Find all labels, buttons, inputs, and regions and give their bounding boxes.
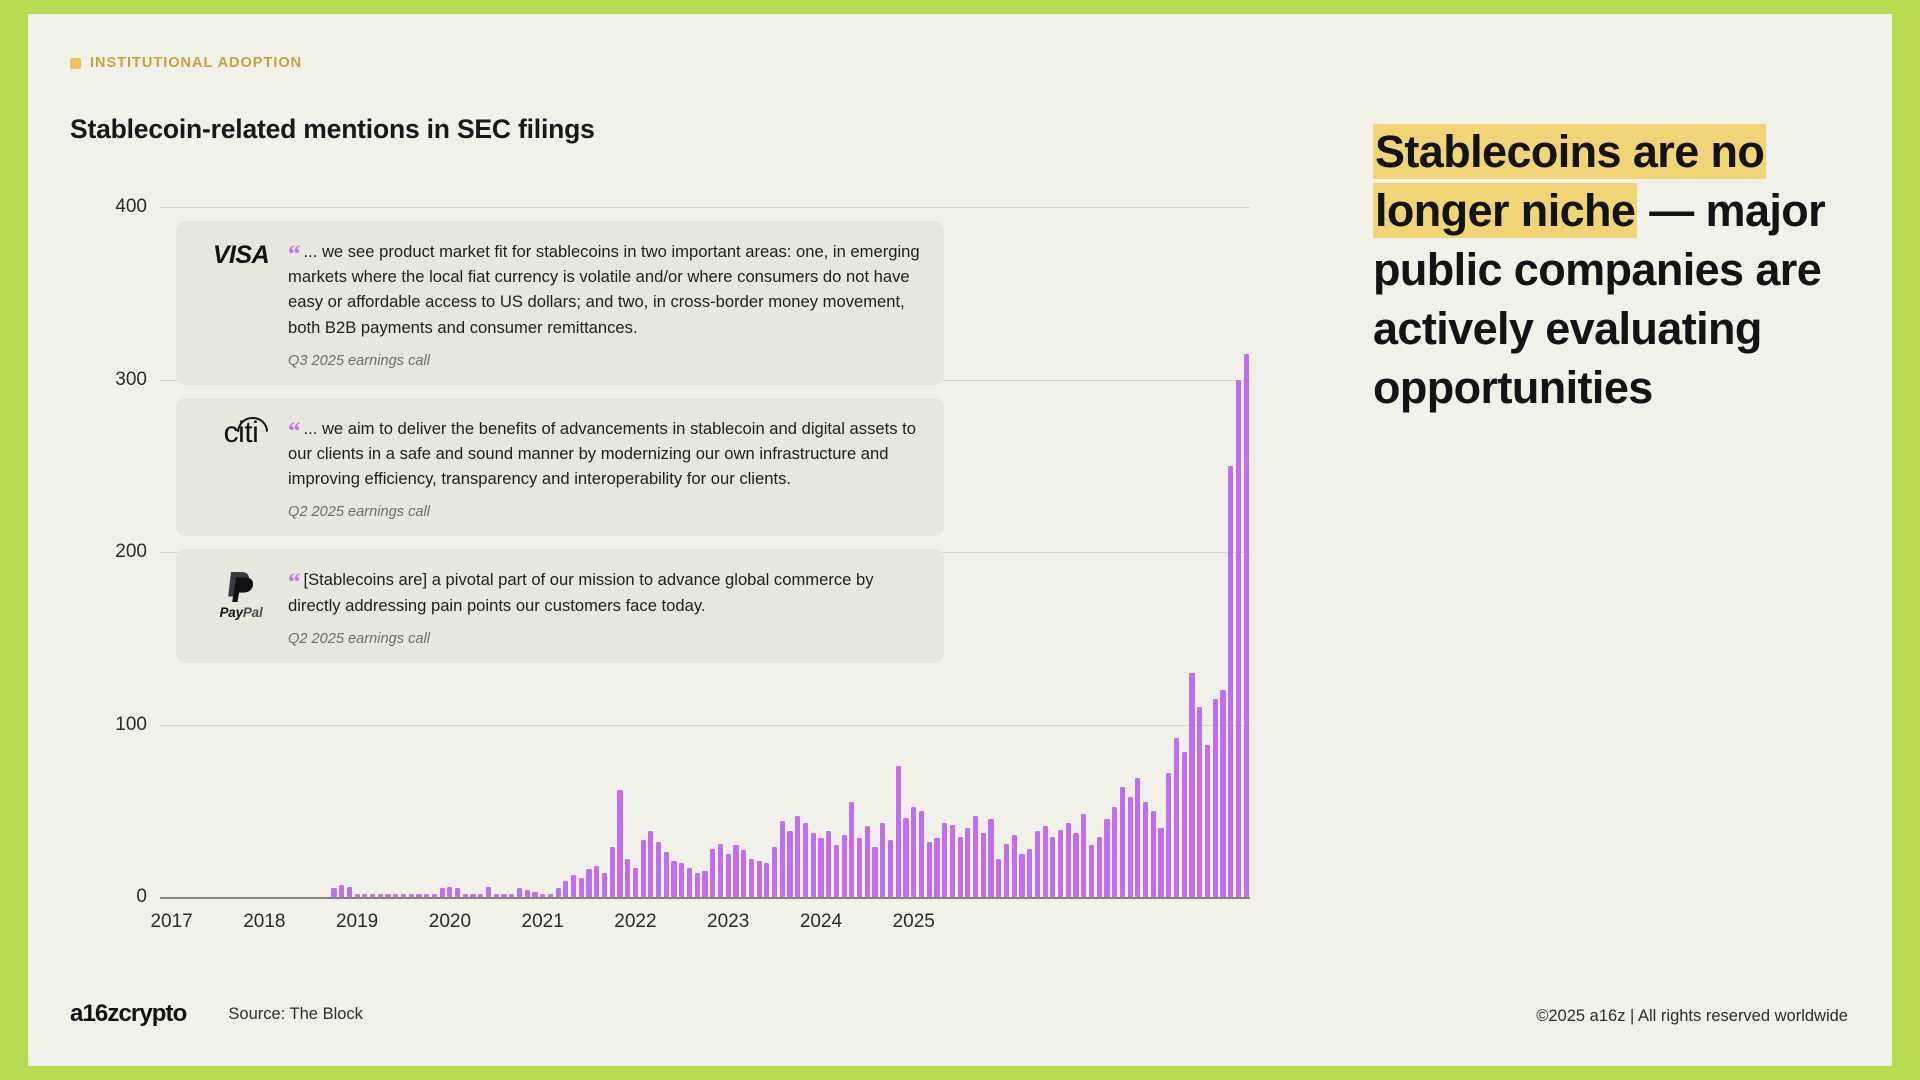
chart-bar bbox=[625, 859, 630, 897]
square-bullet-icon bbox=[70, 58, 81, 69]
chart-bar bbox=[764, 863, 769, 898]
headline: Stablecoins are no longer niche — major … bbox=[1373, 122, 1873, 417]
chart-bar bbox=[780, 821, 785, 897]
chart-bar bbox=[1050, 837, 1055, 897]
chart-bar bbox=[540, 894, 545, 897]
chart-bar bbox=[355, 894, 360, 897]
chart-bar bbox=[447, 887, 452, 897]
chart-bar bbox=[1166, 773, 1171, 897]
chart-bar bbox=[803, 823, 808, 897]
chart-bar bbox=[865, 826, 870, 897]
chart-bar bbox=[965, 828, 970, 897]
chart-bar bbox=[525, 890, 530, 897]
chart-bar bbox=[795, 816, 800, 897]
chart-bar bbox=[757, 861, 762, 897]
chart-bar bbox=[501, 894, 506, 897]
y-axis-tick-200: 200 bbox=[115, 541, 147, 563]
chart-bar bbox=[556, 888, 561, 897]
y-axis-tick-0: 0 bbox=[136, 886, 147, 908]
x-axis-tick-2019: 2019 bbox=[336, 911, 378, 933]
citi-logo: citi bbox=[198, 416, 284, 448]
chart-bar bbox=[702, 871, 707, 897]
chart-bar bbox=[687, 868, 692, 897]
chart-bar bbox=[1097, 837, 1102, 897]
green-frame: INSTITUTIONAL ADOPTION Stablecoin-relate… bbox=[0, 0, 1920, 1080]
quote-text: “[Stablecoins are] a pivotal part of our… bbox=[288, 567, 922, 617]
chart-bar bbox=[1128, 797, 1133, 897]
chart-bar bbox=[463, 894, 468, 897]
chart-bar bbox=[470, 894, 475, 897]
chart-bar bbox=[1035, 831, 1040, 897]
chart-bar bbox=[641, 840, 646, 897]
x-axis-tick-2017: 2017 bbox=[150, 911, 192, 933]
quote-card: citi“... we aim to deliver the benefits … bbox=[176, 398, 944, 537]
chart-bar bbox=[432, 894, 437, 897]
chart-bar bbox=[818, 838, 823, 897]
quote-body: “[Stablecoins are] a pivotal part of our… bbox=[284, 567, 922, 646]
chart-bar bbox=[370, 894, 375, 897]
chart-bar bbox=[509, 894, 514, 897]
chart-bar bbox=[927, 842, 932, 897]
chart-bar bbox=[741, 850, 746, 897]
source-label: Source: The Block bbox=[228, 1005, 363, 1024]
chart-bar bbox=[1104, 819, 1109, 897]
chart-bar bbox=[749, 859, 754, 897]
chart-bar bbox=[996, 859, 1001, 897]
paypal-p-icon bbox=[224, 569, 258, 603]
quote-text: “... we aim to deliver the benefits of a… bbox=[288, 416, 922, 492]
a16zcrypto-logo: a16zcrypto bbox=[70, 1000, 186, 1028]
chart-bar bbox=[1205, 745, 1210, 897]
chart-bar bbox=[1012, 835, 1017, 897]
chart-bar bbox=[888, 840, 893, 897]
chart-bar bbox=[656, 842, 661, 897]
chart-bar bbox=[811, 833, 816, 897]
x-axis-tick-2018: 2018 bbox=[243, 911, 285, 933]
chart-bar bbox=[826, 831, 831, 897]
chart-bar bbox=[1182, 752, 1187, 897]
x-axis-tick-2022: 2022 bbox=[614, 911, 656, 933]
quote-attribution: Q2 2025 earnings call bbox=[288, 631, 922, 647]
quote-mark-icon: “ bbox=[288, 418, 300, 445]
x-axis-tick-2020: 2020 bbox=[429, 911, 471, 933]
chart-bar bbox=[455, 888, 460, 897]
quote-body: “... we see product market fit for stabl… bbox=[284, 239, 922, 369]
chart-bar bbox=[347, 887, 352, 897]
quote-card: PayPal“[Stablecoins are] a pivotal part … bbox=[176, 549, 944, 662]
chart-bar bbox=[664, 852, 669, 897]
eyebrow-label: INSTITUTIONAL ADOPTION bbox=[90, 55, 302, 71]
chart-bar bbox=[1143, 802, 1148, 897]
chart-bar bbox=[378, 894, 383, 897]
chart-bar bbox=[617, 790, 622, 897]
chart-bar bbox=[950, 825, 955, 897]
chart-bar bbox=[517, 888, 522, 897]
visa-wordmark: VISA bbox=[213, 241, 269, 270]
chart-bar bbox=[610, 847, 615, 897]
chart-bar bbox=[401, 894, 406, 897]
chart-bar bbox=[1019, 854, 1024, 897]
x-axis-tick-2021: 2021 bbox=[522, 911, 564, 933]
chart-bar bbox=[1027, 849, 1032, 897]
chart-bar bbox=[880, 823, 885, 897]
chart-bar bbox=[1174, 738, 1179, 897]
slide-card: INSTITUTIONAL ADOPTION Stablecoin-relate… bbox=[28, 14, 1892, 1066]
chart-bar bbox=[981, 833, 986, 897]
quote-attribution: Q2 2025 earnings call bbox=[288, 504, 922, 520]
chart-bar bbox=[872, 847, 877, 897]
chart-bar bbox=[842, 835, 847, 897]
chart-bar bbox=[1189, 673, 1194, 897]
chart-bar bbox=[1004, 844, 1009, 897]
chart-bar bbox=[695, 873, 700, 897]
chart-bar bbox=[393, 894, 398, 897]
paypal-logo: PayPal bbox=[198, 567, 284, 620]
chart-bar bbox=[331, 888, 336, 897]
chart-bar bbox=[1135, 778, 1140, 897]
quote-text: “... we see product market fit for stabl… bbox=[288, 239, 922, 340]
y-axis-tick-400: 400 bbox=[115, 196, 147, 218]
paypal-text: PayPal bbox=[219, 605, 262, 620]
chart-bar bbox=[857, 838, 862, 897]
chart-bar bbox=[671, 861, 676, 897]
chart-bar bbox=[339, 885, 344, 897]
chart-bar bbox=[988, 819, 993, 897]
quote-mark-icon: “ bbox=[288, 241, 300, 268]
chart-bar bbox=[911, 807, 916, 897]
chart-bar bbox=[772, 847, 777, 897]
chart-bar bbox=[594, 866, 599, 897]
eyebrow: INSTITUTIONAL ADOPTION bbox=[70, 55, 302, 71]
chart-bar bbox=[1058, 830, 1063, 897]
x-axis-tick-2024: 2024 bbox=[800, 911, 842, 933]
chart-bar bbox=[1151, 811, 1156, 897]
chart-bar bbox=[1244, 354, 1249, 897]
chart-bar bbox=[1197, 707, 1202, 897]
chart-bar bbox=[1112, 807, 1117, 897]
chart-bar bbox=[571, 875, 576, 897]
chart-bar bbox=[494, 894, 499, 897]
quote-card: VISA“... we see product market fit for s… bbox=[176, 221, 944, 385]
chart-bar bbox=[424, 894, 429, 897]
chart-bar bbox=[1228, 466, 1233, 897]
chart-bar bbox=[934, 838, 939, 897]
chart-bar bbox=[440, 888, 445, 897]
chart-bar bbox=[1073, 833, 1078, 897]
chart-bar bbox=[1158, 828, 1163, 897]
chart-bar bbox=[973, 816, 978, 897]
chart-bar bbox=[1089, 845, 1094, 897]
chart-bar bbox=[478, 894, 483, 897]
gridline-0 bbox=[160, 897, 1250, 899]
quote-mark-icon: “ bbox=[288, 569, 300, 596]
chart-bar bbox=[579, 878, 584, 897]
chart-bar bbox=[586, 869, 591, 897]
chart-bar bbox=[1213, 699, 1218, 897]
chart-bar bbox=[385, 894, 390, 897]
footer-left: a16zcrypto Source: The Block bbox=[70, 1000, 363, 1028]
chart-bar bbox=[548, 894, 553, 897]
chart-bar bbox=[834, 845, 839, 897]
chart-bar bbox=[486, 887, 491, 897]
chart-bar bbox=[903, 818, 908, 897]
y-axis-tick-100: 100 bbox=[115, 714, 147, 736]
chart-bar bbox=[1236, 380, 1241, 898]
chart-bar bbox=[648, 831, 653, 897]
visa-logo: VISA bbox=[198, 239, 284, 270]
citi-arc-icon bbox=[237, 417, 268, 433]
x-axis-tick-2025: 2025 bbox=[893, 911, 935, 933]
chart-bar bbox=[710, 849, 715, 897]
quote-card-list: VISA“... we see product market fit for s… bbox=[176, 221, 944, 676]
chart-bar bbox=[896, 766, 901, 897]
chart-bar bbox=[726, 854, 731, 897]
y-axis-tick-300: 300 bbox=[115, 369, 147, 391]
quote-body: “... we aim to deliver the benefits of a… bbox=[284, 416, 922, 521]
chart-bar bbox=[787, 831, 792, 897]
chart-bar bbox=[679, 863, 684, 898]
chart-bar bbox=[532, 892, 537, 897]
chart-bar bbox=[416, 894, 421, 897]
chart-bar bbox=[942, 823, 947, 897]
chart-bar bbox=[958, 837, 963, 897]
chart-bar bbox=[718, 844, 723, 897]
chart-bar bbox=[633, 868, 638, 897]
chart-bar bbox=[1081, 814, 1086, 897]
chart-bar bbox=[1066, 823, 1071, 897]
chart-bar bbox=[602, 873, 607, 897]
copyright-label: ©2025 a16z | All rights reserved worldwi… bbox=[1536, 1007, 1848, 1026]
page-title: Stablecoin-related mentions in SEC filin… bbox=[70, 114, 595, 145]
chart-bar bbox=[733, 845, 738, 897]
chart-bar bbox=[1043, 826, 1048, 897]
quote-attribution: Q3 2025 earnings call bbox=[288, 353, 922, 369]
chart-bar bbox=[563, 881, 568, 897]
chart-bar bbox=[409, 894, 414, 897]
chart-bar bbox=[919, 811, 924, 897]
chart-bar bbox=[1220, 690, 1225, 897]
chart-bar bbox=[1120, 787, 1125, 897]
paypal-wordmark: PayPal bbox=[219, 569, 262, 620]
x-axis-tick-2023: 2023 bbox=[707, 911, 749, 933]
chart-bar bbox=[849, 802, 854, 897]
chart-bar bbox=[362, 894, 367, 897]
citi-wordmark: citi bbox=[224, 418, 259, 448]
